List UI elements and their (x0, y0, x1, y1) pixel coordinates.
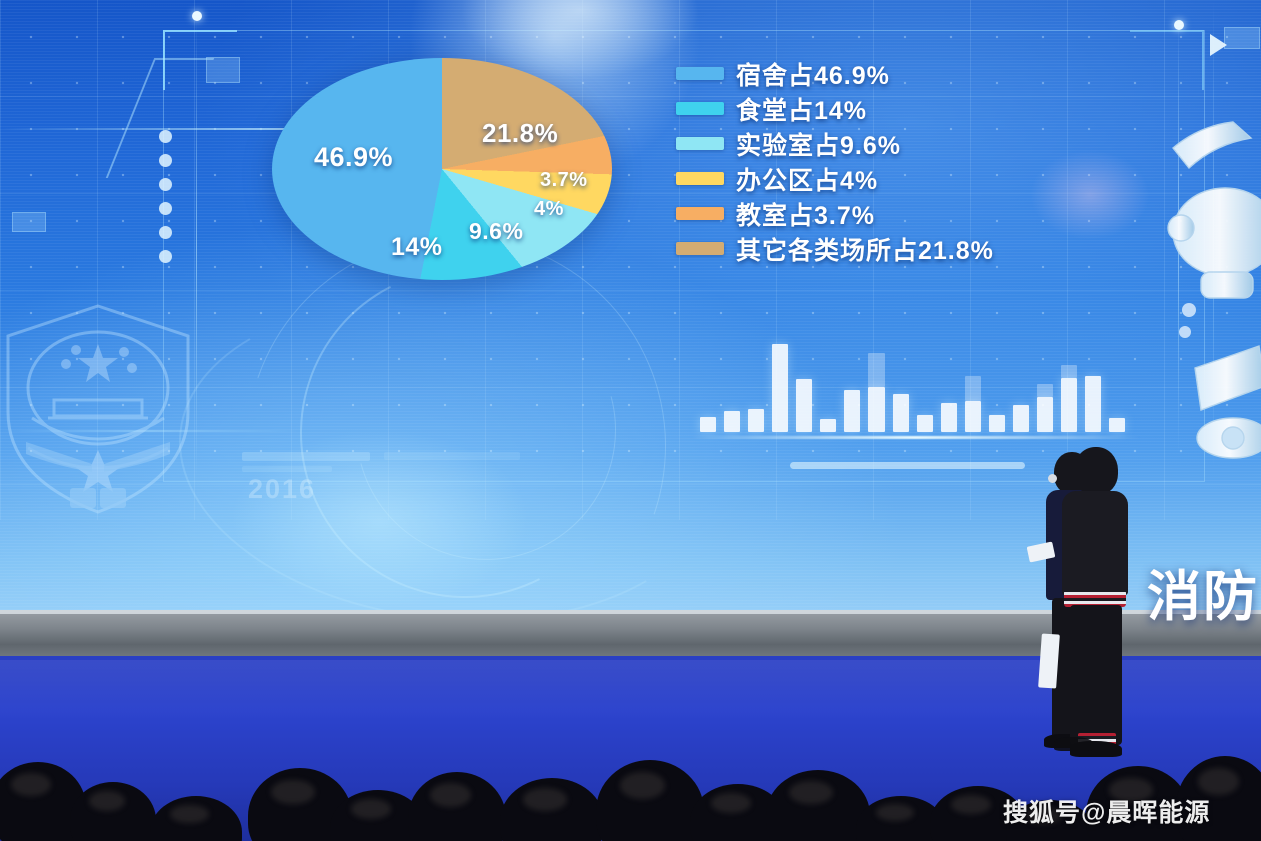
bar-item (941, 403, 957, 432)
legend-color-swatch (676, 207, 724, 220)
bar-column (1061, 336, 1077, 432)
audience-head-highlight (789, 781, 833, 804)
legend-color-swatch (676, 242, 724, 255)
bar-column (893, 336, 909, 432)
bar-item (772, 344, 788, 432)
legend-item: 实验室占9.6% (676, 126, 1146, 161)
bar-column (700, 336, 716, 432)
bar-item (1061, 378, 1077, 432)
audience-head-highlight (89, 791, 125, 811)
legend-color-swatch (676, 172, 724, 185)
ui-chip-block (12, 212, 46, 232)
bar-item (893, 394, 909, 432)
legend-item: 宿舍占46.9% (676, 56, 1146, 91)
bar-item (700, 417, 716, 432)
legend-color-swatch (676, 67, 724, 80)
bar-item (917, 415, 933, 432)
audience-head-highlight (711, 793, 751, 813)
presenter-jacket (1062, 491, 1128, 595)
legend-item-label: 宿舍占46.9% (736, 56, 890, 92)
play-triangle-icon (1210, 34, 1227, 56)
node-dot-icon (1174, 20, 1184, 30)
progress-bar (790, 462, 1025, 469)
bar-column (796, 336, 812, 432)
legend-item-label: 食堂占14% (736, 91, 867, 127)
bar-column (989, 336, 1005, 432)
presenter-shoe (1054, 737, 1094, 751)
pie-slice-label-lab: 9.6% (469, 218, 523, 245)
legend-color-swatch (676, 137, 724, 150)
robot-mascot-icon (1155, 120, 1261, 480)
audience-head-highlight (351, 799, 391, 819)
bar-item (844, 390, 860, 432)
bar-item (1109, 418, 1125, 432)
audience-head-highlight (271, 780, 315, 805)
bar-column (772, 336, 788, 432)
bar-item (796, 379, 812, 432)
bar-column (1013, 336, 1029, 432)
headset-mic-icon (1048, 474, 1057, 483)
faint-decor-bar (242, 466, 332, 472)
pie-chart: 46.9% 14% 9.6% 4% 3.7% 21.8% (272, 58, 612, 300)
bar-item (965, 401, 981, 432)
bar-ghost-segment (1061, 365, 1077, 378)
audience-head-highlight (1198, 768, 1239, 795)
bar-ghost-segment (965, 376, 981, 401)
legend-item: 其它各类场所占21.8% (676, 231, 1146, 266)
bar-ghost-segment (1037, 384, 1053, 397)
bar-item (868, 387, 884, 432)
audience-head-highlight (620, 772, 665, 799)
year-watermark-label: 2016 (248, 474, 316, 505)
pie-slice-label-office: 4% (534, 198, 564, 221)
bar-item (820, 419, 836, 432)
bar-column (724, 336, 740, 432)
pie-chart-legend: 宿舍占46.9%食堂占14%实验室占9.6%办公区占4%教室占3.7%其它各类场… (676, 56, 1146, 266)
bar-column (965, 336, 981, 432)
presenter-papers (1038, 633, 1060, 688)
legend-color-swatch (676, 102, 724, 115)
pie-slice-label-classroom: 3.7% (540, 169, 588, 192)
audience-head-highlight (170, 805, 209, 824)
pie-slice-label-other: 21.8% (482, 118, 558, 149)
bar-item (989, 415, 1005, 432)
watermark-text: 搜狐号@晨晖能源 (1003, 793, 1210, 829)
bar-item (1085, 376, 1101, 432)
audience-head-highlight (876, 804, 914, 821)
bar-column (1037, 336, 1053, 432)
audience-head-highlight (523, 788, 567, 810)
bar-ghost-segment (868, 353, 884, 387)
bar-column (1109, 336, 1125, 432)
bar-column (941, 336, 957, 432)
pie-slice-label-canteen: 14% (391, 233, 443, 262)
bar-column (820, 336, 836, 432)
police-emblem-icon (0, 292, 204, 524)
presenter-legs (1070, 605, 1122, 745)
bar-column (844, 336, 860, 432)
bar-item (1037, 397, 1053, 432)
bar-column (917, 336, 933, 432)
node-dot-icon (192, 11, 202, 21)
bar-item (1013, 405, 1029, 432)
screenshot-root: 46.9% 14% 9.6% 4% 3.7% 21.8% 宿舍占46.9%食堂占… (0, 0, 1261, 841)
legend-item-label: 办公区占4% (736, 161, 878, 197)
bar-column (868, 336, 884, 432)
legend-item: 食堂占14% (676, 91, 1146, 126)
pie-slice-label-dorm: 46.9% (314, 142, 393, 173)
ui-chip-block (1224, 27, 1260, 49)
faint-decor-bar (384, 452, 520, 460)
faint-decor-bar (242, 452, 370, 461)
bar-column (748, 336, 764, 432)
audience-head-highlight (430, 783, 471, 807)
bar-item (724, 411, 740, 432)
bar-item (748, 409, 764, 432)
legend-item: 教室占3.7% (676, 196, 1146, 231)
bar-chart-baseline (690, 436, 1140, 439)
legend-item-label: 其它各类场所占21.8% (736, 231, 994, 267)
bar-column (1085, 336, 1101, 432)
legend-item: 办公区占4% (676, 161, 1146, 196)
presenter-head (1074, 447, 1118, 495)
side-title-text: 消防 (1147, 552, 1259, 631)
bar-chart (700, 336, 1125, 432)
legend-item-label: 实验室占9.6% (736, 126, 901, 162)
legend-item-label: 教室占3.7% (736, 196, 875, 232)
